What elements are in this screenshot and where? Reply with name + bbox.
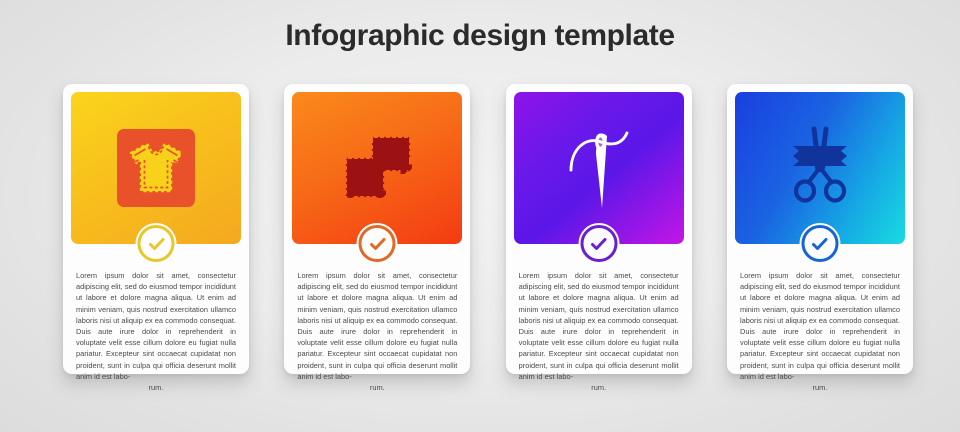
fabric-swatches-icon [292, 92, 462, 244]
infographic-card-scissors[interactable]: Lorem ipsum dolor sit amet, consectetur … [727, 84, 913, 374]
infographic-card-tshirt[interactable]: Lorem ipsum dolor sit amet, consectetur … [63, 84, 249, 374]
status-badge-check [357, 223, 398, 264]
card-body-main: Lorem ipsum dolor sit amet, consectetur … [297, 271, 457, 381]
card-body-main: Lorem ipsum dolor sit amet, consectetur … [76, 271, 236, 381]
check-icon [580, 225, 617, 262]
check-icon [359, 225, 396, 262]
card-panel [735, 92, 905, 244]
card-body-main: Lorem ipsum dolor sit amet, consectetur … [519, 271, 679, 381]
status-badge-check [799, 223, 840, 264]
card-body-text: Lorem ipsum dolor sit amet, consectetur … [76, 270, 236, 404]
card-body-last-line: rum. [297, 382, 457, 393]
card-body-text: Lorem ipsum dolor sit amet, consectetur … [297, 270, 457, 404]
status-badge-check [136, 223, 177, 264]
card-body-last-line: rum. [740, 382, 900, 393]
card-body-text: Lorem ipsum dolor sit amet, consectetur … [740, 270, 900, 404]
tshirt-icon [71, 92, 241, 244]
infographic-card-list: Lorem ipsum dolor sit amet, consectetur … [63, 84, 913, 376]
scissors-cutting-fabric-icon [735, 92, 905, 244]
check-icon [138, 225, 175, 262]
card-panel [514, 92, 684, 244]
sewing-needle-thread-icon [514, 92, 684, 244]
status-badge-check [578, 223, 619, 264]
page-title: Infographic design template [0, 19, 960, 53]
card-body-last-line: rum. [76, 382, 236, 393]
infographic-card-fabric[interactable]: Lorem ipsum dolor sit amet, consectetur … [284, 84, 470, 374]
card-body-text: Lorem ipsum dolor sit amet, consectetur … [519, 270, 679, 404]
check-icon [801, 225, 838, 262]
infographic-card-needle[interactable]: Lorem ipsum dolor sit amet, consectetur … [506, 84, 692, 374]
card-panel [71, 92, 241, 244]
card-body-main: Lorem ipsum dolor sit amet, consectetur … [740, 271, 900, 381]
card-body-last-line: rum. [519, 382, 679, 393]
card-panel [292, 92, 462, 244]
